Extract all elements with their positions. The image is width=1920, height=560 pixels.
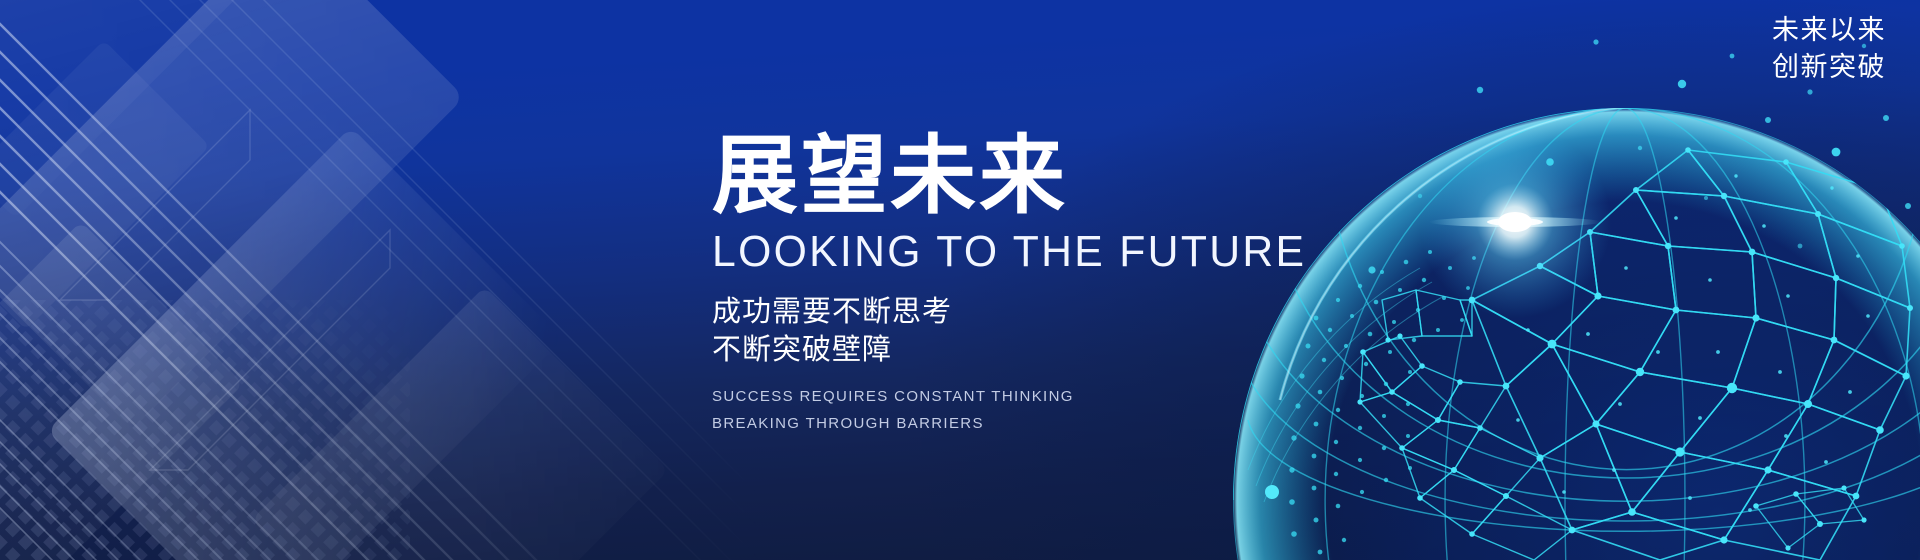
page-title: 展望未来 <box>712 132 1352 221</box>
globe-lens-flare <box>1419 126 1611 318</box>
globe-limb-node <box>1265 485 1279 499</box>
page-title-english: LOOKING TO THE FUTURE <box>712 227 1333 276</box>
subtitle-english-block: SUCCESS REQUIRES CONSTANT THINKING BREAK… <box>712 384 1352 437</box>
corner-slogan: 未来以来 创新突破 <box>1772 12 1886 87</box>
geo-hairlines <box>0 0 760 560</box>
corner-slogan-line-2: 创新突破 <box>1772 49 1886 86</box>
geo-panels <box>0 0 669 560</box>
subtitle-cn-line-1: 成功需要不断思考 <box>712 293 1352 332</box>
globe-nodes <box>1357 147 1913 550</box>
promo-banner: 未来以来 创新突破 展望未来 LOOKING TO THE FUTURE 成功需… <box>0 0 1920 560</box>
corner-slogan-line-1: 未来以来 <box>1772 12 1886 49</box>
subtitle-en-line-2: BREAKING THROUGH BARRIERS <box>712 411 1352 438</box>
headline-block: 展望未来 LOOKING TO THE FUTURE 成功需要不断思考 不断突破… <box>712 132 1352 437</box>
subtitle-cn-line-2: 不断突破壁障 <box>712 331 1352 370</box>
left-geometric-graphic <box>0 0 760 560</box>
globe-terminator <box>1280 106 1820 400</box>
geo-panel-edges <box>60 110 390 470</box>
subtitle-en-line-1: SUCCESS REQUIRES CONSTANT THINKING <box>712 384 1352 411</box>
geo-dot-grid <box>0 290 410 560</box>
